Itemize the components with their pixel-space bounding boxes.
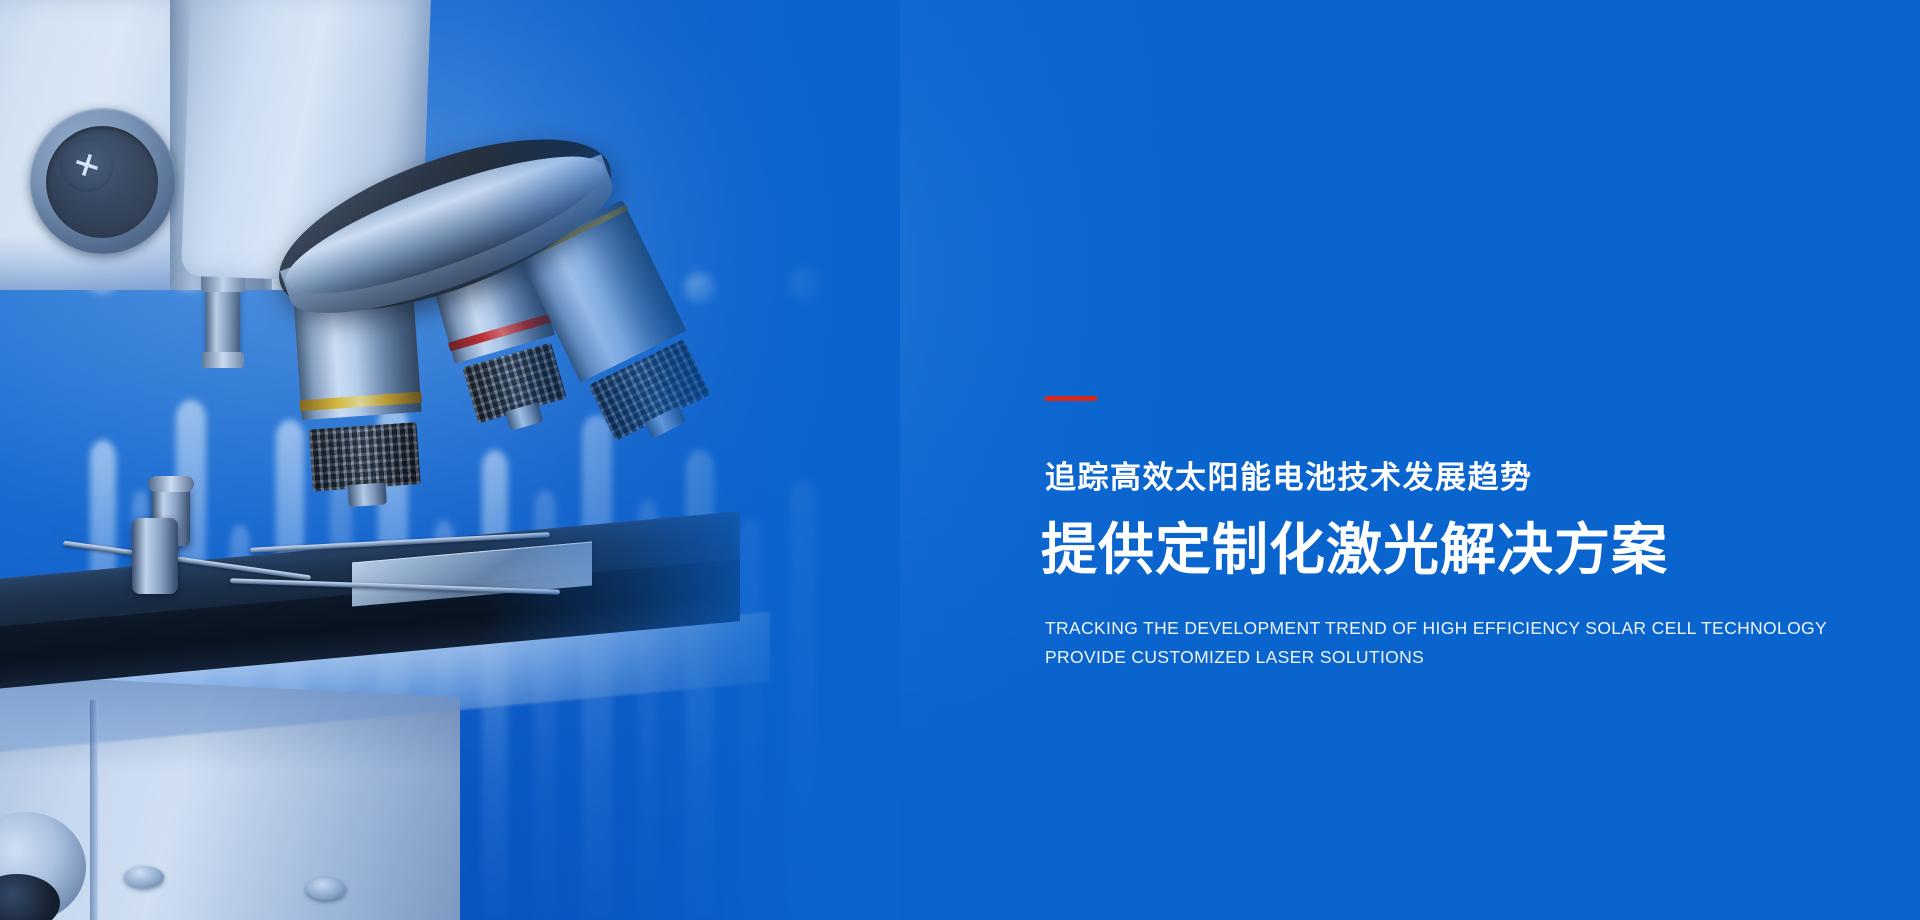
hero-banner: 追踪高效太阳能电池技术发展趋势 提供定制化激光解决方案 TRACKING THE… [0, 0, 1920, 920]
hero-subtitle-line-2: PROVIDE CUSTOMIZED LASER SOLUTIONS [1045, 647, 1424, 668]
microscope-photo [0, 0, 900, 920]
base-groove [90, 700, 98, 920]
hero-headline: 提供定制化激光解决方案 [1041, 517, 1668, 583]
hero-kicker: 追踪高效太阳能电池技术发展趋势 [1045, 459, 1533, 498]
hero-text-block: 追踪高效太阳能电池技术发展趋势 提供定制化激光解决方案 TRACKING THE… [1045, 0, 1875, 920]
accent-rule [1045, 396, 1097, 401]
slide-clip-post [132, 518, 178, 594]
hero-subtitle-line-1: TRACKING THE DEVELOPMENT TREND OF HIGH E… [1045, 618, 1827, 639]
base-bolt [124, 866, 164, 888]
focus-knob [30, 108, 176, 254]
base-bolt [306, 878, 346, 900]
adjustment-screw [206, 286, 240, 354]
